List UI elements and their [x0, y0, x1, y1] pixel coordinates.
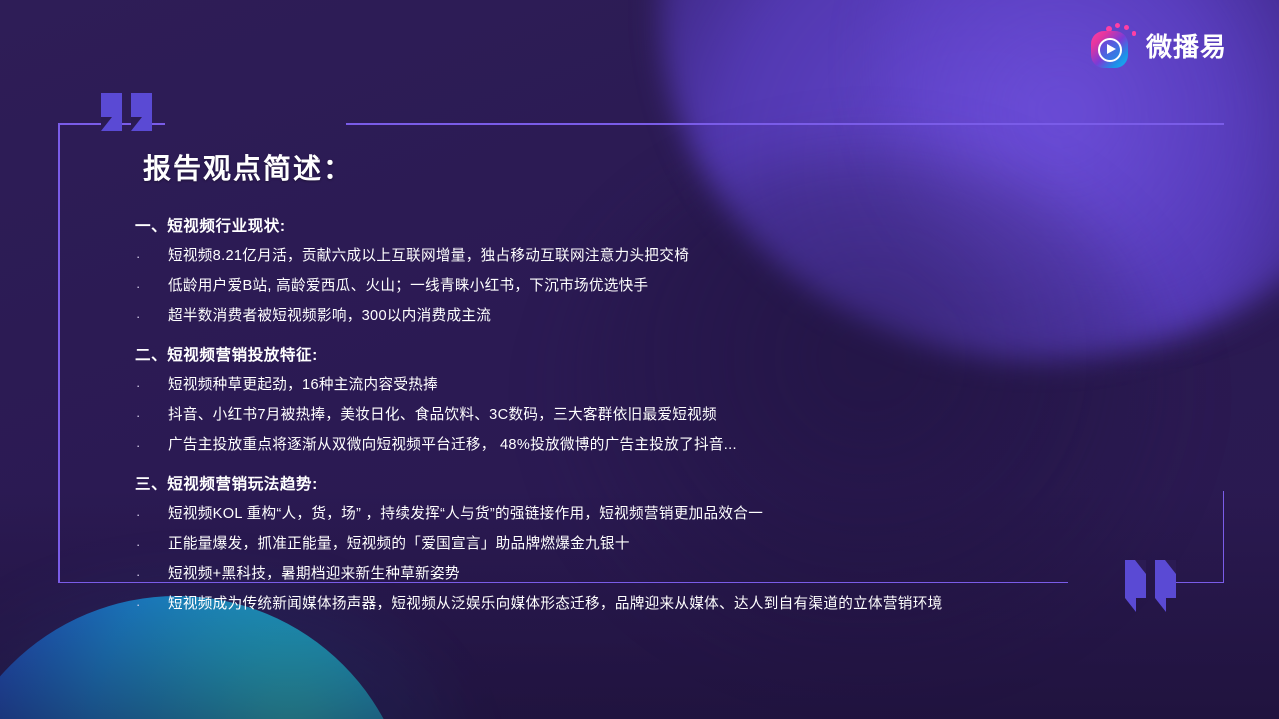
section-heading: 一、短视频行业现状: [135, 215, 1175, 238]
logo-dot-icon [1132, 31, 1137, 36]
bullet-marker-icon: · [135, 534, 168, 555]
bullet-marker-icon: · [135, 375, 168, 396]
section-spacer [135, 336, 1175, 344]
brand-logo: 微播易 [1089, 20, 1227, 68]
list-item-text: 短视频种草更起劲，16种主流内容受热捧 [168, 375, 1175, 397]
list-item: · 短视频8.21亿月活，贡献六成以上互联网增量，独占移动互联网注意力头把交椅 [135, 246, 1175, 268]
list-item: · 抖音、小红书7月被热捧，美妆日化、食品饮料、3C数码，三大客群依旧最爱短视频 [135, 405, 1175, 427]
slide-content: 报告观点简述： 一、短视频行业现状: · 短视频8.21亿月活，贡献六成以上互联… [135, 147, 1175, 624]
list-item: · 短视频成为传统新闻媒体扬声器，短视频从泛娱乐向媒体形态迁移，品牌迎来从媒体、… [135, 594, 1175, 616]
list-item: · 低龄用户爱B站, 高龄爱西瓜、火山；一线青睐小红书，下沉市场优选快手 [135, 276, 1175, 298]
bullet-marker-icon: · [135, 564, 168, 585]
page-title: 报告观点简述： [143, 147, 1175, 187]
list-item-text: 广告主投放重点将逐渐从双微向短视频平台迁移， 48%投放微博的广告主投放了抖音.… [168, 435, 1175, 457]
section-marketing-trends: 三、短视频营销玩法趋势: · 短视频KOL 重构“人，货，场” ，持续发挥“人与… [135, 473, 1175, 616]
logo-dot-icon [1115, 23, 1120, 28]
bullet-marker-icon: · [135, 435, 168, 456]
bullet-marker-icon: · [135, 306, 168, 327]
section-spacer [135, 465, 1175, 473]
brand-name: 微播易 [1146, 28, 1227, 60]
list-item-text: 抖音、小红书7月被热捧，美妆日化、食品饮料、3C数码，三大客群依旧最爱短视频 [168, 405, 1175, 427]
logo-dot-icon [1124, 25, 1129, 30]
quote-glyph [101, 93, 122, 131]
section-heading: 三、短视频营销玩法趋势: [135, 473, 1175, 496]
bullet-marker-icon: · [135, 504, 168, 525]
quote-glyph [131, 93, 152, 131]
play-triangle-icon [1107, 44, 1116, 54]
section-heading: 二、短视频营销投放特征: [135, 344, 1175, 367]
list-item: · 正能量爆发，抓准正能量，短视频的「爱国宣言」助品牌燃爆金九银十 [135, 534, 1175, 556]
presentation-slide: 微播易 报告观点简述： 一、短视频行业现状: · 短视频8.21亿月活，贡献六成… [0, 0, 1279, 719]
list-item: · 短视频+黑科技，暑期档迎来新生种草新姿势 [135, 564, 1175, 586]
list-item-text: 短视频成为传统新闻媒体扬声器，短视频从泛娱乐向媒体形态迁移，品牌迎来从媒体、达人… [168, 594, 1175, 616]
frame-line-left [58, 123, 60, 583]
bullet-marker-icon: · [135, 276, 168, 297]
list-item: · 超半数消费者被短视频影响，300以内消费成主流 [135, 306, 1175, 328]
list-item: · 广告主投放重点将逐渐从双微向短视频平台迁移， 48%投放微博的广告主投放了抖… [135, 435, 1175, 457]
section-industry-status: 一、短视频行业现状: · 短视频8.21亿月活，贡献六成以上互联网增量，独占移动… [135, 215, 1175, 328]
list-item-text: 短视频8.21亿月活，贡献六成以上互联网增量，独占移动互联网注意力头把交椅 [168, 246, 1175, 268]
list-item: · 短视频种草更起劲，16种主流内容受热捧 [135, 375, 1175, 397]
list-item-text: 超半数消费者被短视频影响，300以内消费成主流 [168, 306, 1175, 328]
play-circle-icon [1089, 20, 1137, 68]
quote-mark-open-icon [101, 93, 152, 131]
bullet-marker-icon: · [135, 246, 168, 267]
list-item-text: 正能量爆发，抓准正能量，短视频的「爱国宣言」助品牌燃爆金九银十 [168, 534, 1175, 556]
list-item-text: 低龄用户爱B站, 高龄爱西瓜、火山；一线青睐小红书，下沉市场优选快手 [168, 276, 1175, 298]
bullet-marker-icon: · [135, 405, 168, 426]
frame-line-right [1223, 491, 1225, 583]
bullet-marker-icon: · [135, 594, 168, 615]
frame-line-top-right [346, 123, 1224, 125]
list-item-text: 短视频KOL 重构“人，货，场” ，持续发挥“人与货”的强链接作用，短视频营销更… [168, 504, 1175, 526]
section-marketing-features: 二、短视频营销投放特征: · 短视频种草更起劲，16种主流内容受热捧 · 抖音、… [135, 344, 1175, 457]
list-item-text: 短视频+黑科技，暑期档迎来新生种草新姿势 [168, 564, 1175, 586]
list-item: · 短视频KOL 重构“人，货，场” ，持续发挥“人与货”的强链接作用，短视频营… [135, 504, 1175, 526]
